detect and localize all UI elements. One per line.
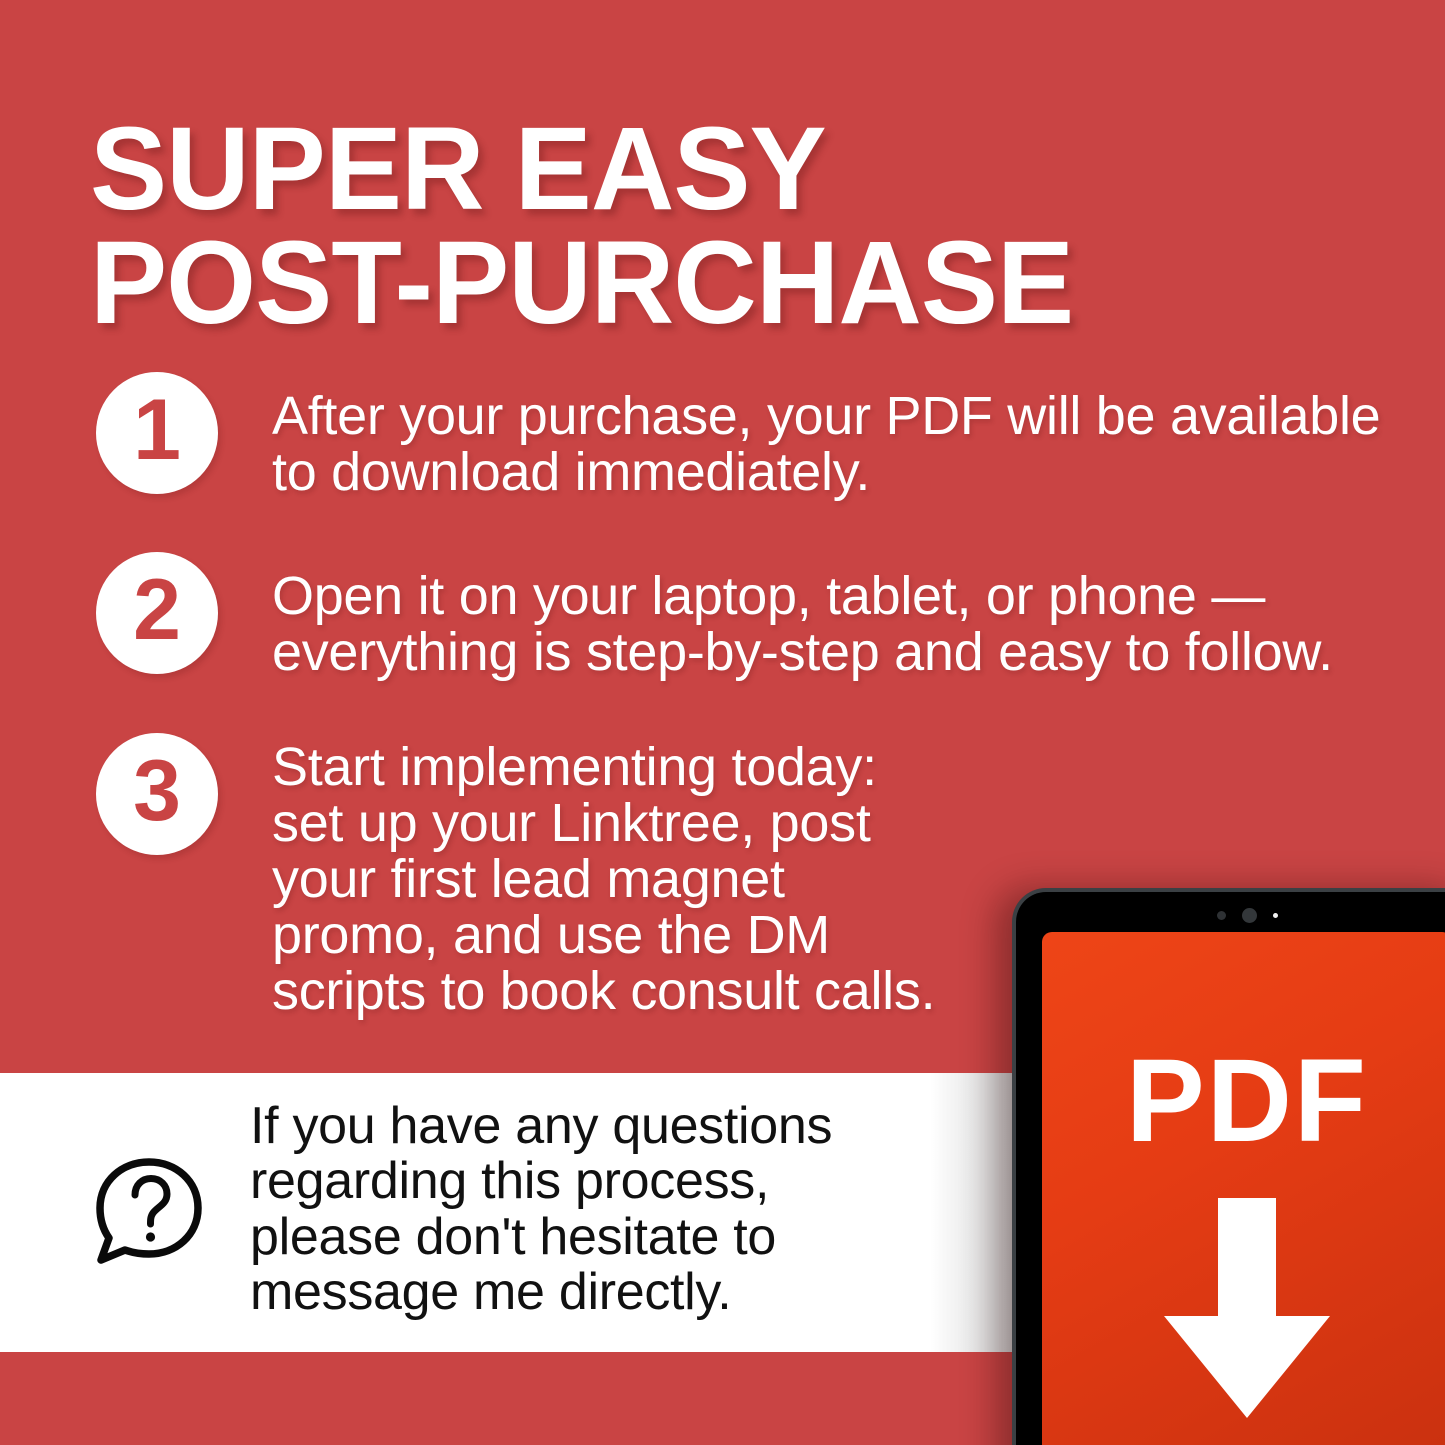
sensor-small-icon xyxy=(1217,911,1226,920)
question-text-line: If you have any questions xyxy=(250,1099,1080,1154)
page-title-line-2: POST-PURCHASE xyxy=(90,226,1188,340)
question-text: If you have any questions regarding this… xyxy=(250,1099,1080,1325)
question-text-line: regarding this process, xyxy=(250,1154,1080,1209)
step-text-line: everything is step-by-step and easy to f… xyxy=(272,624,1386,680)
step-number-label: 3 xyxy=(133,748,181,834)
step-number-label: 2 xyxy=(133,567,181,653)
step-text-line: to download immediately. xyxy=(272,444,1386,500)
step-text-line: After your purchase, your PDF will be av… xyxy=(272,388,1386,444)
pdf-label: PDF xyxy=(1126,1042,1368,1160)
step-text-line: Start implementing today: xyxy=(272,739,1386,795)
list-item: 2 Open it on your laptop, tablet, or pho… xyxy=(96,552,1386,680)
page-title: SUPER EASY POST-PURCHASE xyxy=(90,112,1188,341)
step-number-badge: 2 xyxy=(96,552,218,674)
step-text-line: Open it on your laptop, tablet, or phone… xyxy=(272,568,1386,624)
sensor-indicator-icon xyxy=(1273,913,1278,918)
question-text-line: message me directly. xyxy=(250,1265,1080,1320)
poster-canvas: SUPER EASY POST-PURCHASE 1 After your pu… xyxy=(0,0,1445,1445)
question-text-line: please don't hesitate to xyxy=(250,1210,1080,1265)
question-panel: If you have any questions regarding this… xyxy=(0,1073,1080,1352)
tablet-bezel: PDF xyxy=(1016,892,1445,1445)
list-item: 1 After your purchase, your PDF will be … xyxy=(96,372,1386,500)
step-text-line: set up your Linktree, post xyxy=(272,795,1386,851)
step-number-label: 1 xyxy=(133,387,181,473)
sensor-camera-icon xyxy=(1242,908,1257,923)
tablet-screen: PDF xyxy=(1042,932,1445,1445)
tablet-mockup: PDF xyxy=(1012,888,1445,1445)
download-arrow-icon xyxy=(1152,1198,1342,1423)
step-description: Open it on your laptop, tablet, or phone… xyxy=(272,552,1386,680)
step-number-badge: 3 xyxy=(96,733,218,855)
step-description: After your purchase, your PDF will be av… xyxy=(272,372,1386,500)
question-speech-bubble-icon xyxy=(84,1148,214,1278)
step-number-badge: 1 xyxy=(96,372,218,494)
tablet-sensor-cluster xyxy=(1016,908,1445,922)
page-title-line-1: SUPER EASY xyxy=(90,112,1188,226)
